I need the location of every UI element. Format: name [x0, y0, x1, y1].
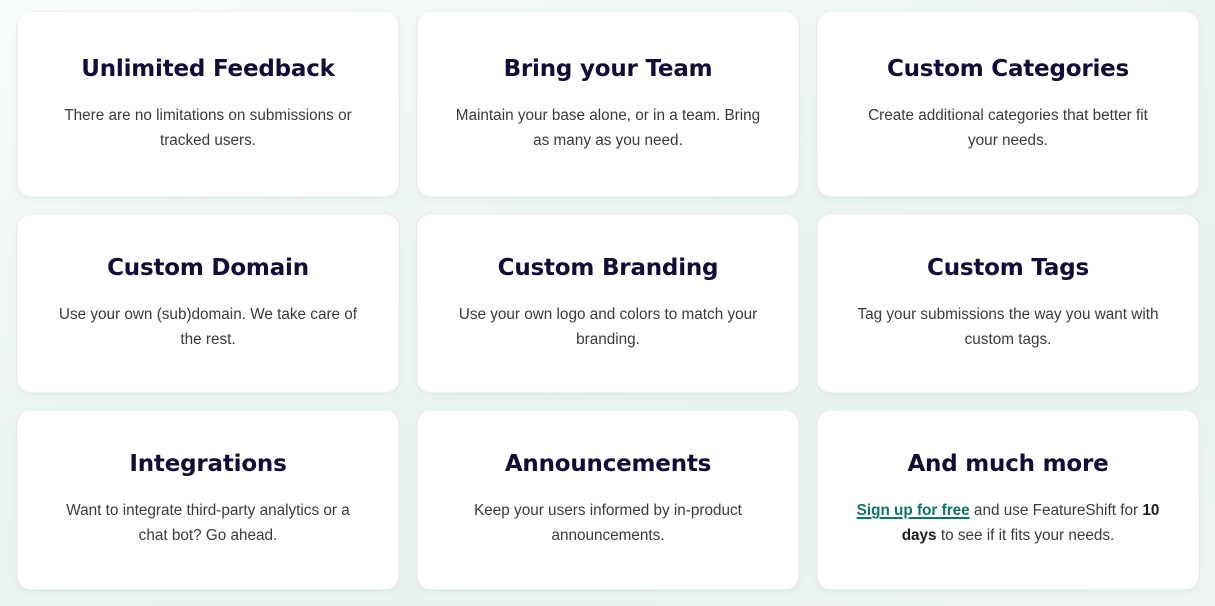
- card-title: Custom Domain: [107, 255, 309, 281]
- feature-card-bring-your-team: Bring your Team Maintain your base alone…: [417, 11, 799, 197]
- card-title: Custom Tags: [927, 255, 1089, 281]
- feature-card-custom-tags: Custom Tags Tag your submissions the way…: [817, 214, 1199, 393]
- card-body: Create additional categories that better…: [856, 103, 1161, 153]
- card-title: Custom Categories: [887, 56, 1129, 82]
- card-body-text-end: to see if it fits your needs.: [937, 527, 1115, 544]
- card-body: Use your own (sub)domain. We take care o…: [56, 302, 361, 352]
- sign-up-for-free-link[interactable]: Sign up for free: [857, 502, 970, 519]
- card-title: Announcements: [505, 451, 711, 477]
- feature-card-custom-branding: Custom Branding Use your own logo and co…: [417, 214, 799, 393]
- card-title: Bring your Team: [504, 56, 713, 82]
- feature-card-unlimited-feedback: Unlimited Feedback There are no limitati…: [17, 11, 399, 197]
- card-title: Custom Branding: [498, 255, 719, 281]
- card-title: Integrations: [129, 451, 286, 477]
- feature-card-and-much-more: And much more Sign up for free and use F…: [817, 410, 1199, 590]
- card-body: Want to integrate third-party analytics …: [56, 498, 361, 548]
- card-body: There are no limitations on submissions …: [56, 103, 361, 153]
- feature-card-custom-domain: Custom Domain Use your own (sub)domain. …: [17, 214, 399, 393]
- card-body: Use your own logo and colors to match yo…: [456, 302, 761, 352]
- card-title: Unlimited Feedback: [81, 56, 335, 82]
- card-body-text-after-link: and use FeatureShift for: [970, 502, 1143, 519]
- card-body: Keep your users informed by in-product a…: [456, 498, 761, 548]
- card-body: Tag your submissions the way you want wi…: [856, 302, 1161, 352]
- feature-card-custom-categories: Custom Categories Create additional cate…: [817, 11, 1199, 197]
- card-body-rich: Sign up for free and use FeatureShift fo…: [856, 498, 1161, 548]
- card-title: And much more: [907, 451, 1108, 477]
- features-grid: Unlimited Feedback There are no limitati…: [0, 0, 1215, 606]
- card-body: Maintain your base alone, or in a team. …: [456, 103, 761, 153]
- feature-card-integrations: Integrations Want to integrate third-par…: [17, 410, 399, 590]
- feature-card-announcements: Announcements Keep your users informed b…: [417, 410, 799, 590]
